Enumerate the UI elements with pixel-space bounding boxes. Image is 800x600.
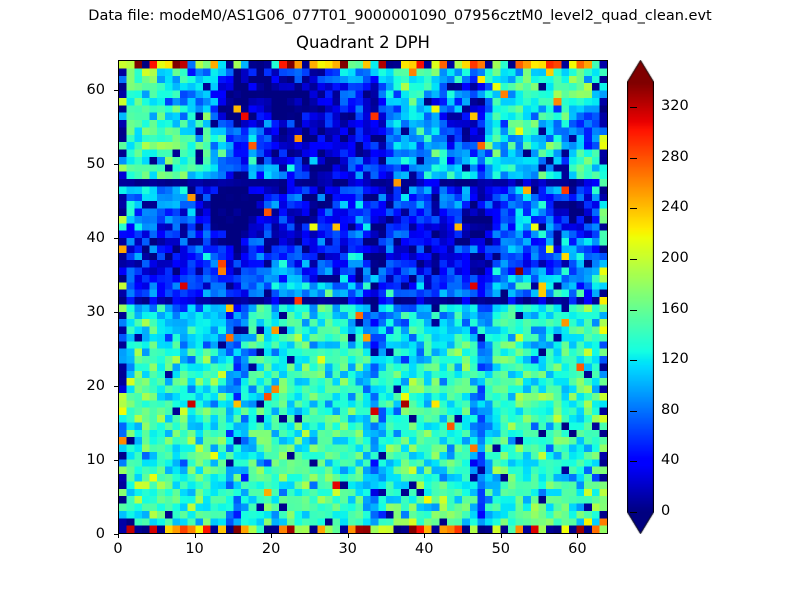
x-tick-label: 50 <box>471 541 531 557</box>
x-tick-mark <box>424 534 425 538</box>
x-tick-mark <box>271 534 272 538</box>
colorbar-tick-mark <box>630 158 637 159</box>
x-tick-mark <box>348 534 349 538</box>
colorbar-tick-mark <box>630 461 637 462</box>
y-tick-label: 40 <box>45 230 105 246</box>
colorbar-tick-label: 320 <box>661 98 689 114</box>
y-tick-label: 20 <box>45 378 105 394</box>
x-tick-mark <box>501 534 502 538</box>
colorbar-tick-label: 40 <box>661 452 679 468</box>
y-tick-mark <box>114 164 118 165</box>
y-tick-label: 60 <box>45 82 105 98</box>
x-tick-label: 60 <box>547 541 607 557</box>
colorbar-tick-mark <box>630 360 637 361</box>
colorbar-tick-mark <box>630 310 637 311</box>
colorbar-tick-label: 80 <box>661 402 679 418</box>
x-tick-label: 10 <box>165 541 225 557</box>
y-tick-mark <box>114 312 118 313</box>
colorbar-tick-label: 0 <box>661 503 670 519</box>
y-tick-mark <box>114 238 118 239</box>
x-tick-label: 40 <box>394 541 454 557</box>
x-tick-mark <box>195 534 196 538</box>
colorbar[interactable] <box>627 60 654 534</box>
data-file-caption: Data file: modeM0/AS1G06_077T01_90000010… <box>0 7 800 25</box>
colorbar-tick-label: 200 <box>661 250 689 266</box>
page-title: Quadrant 2 DPH <box>118 33 608 53</box>
x-tick-label: 0 <box>88 541 148 557</box>
y-tick-label: 0 <box>45 526 105 542</box>
colorbar-tick-mark <box>630 411 637 412</box>
colorbar-tick-label: 160 <box>661 301 689 317</box>
x-tick-mark <box>118 534 119 538</box>
colorbar-tick-label: 280 <box>661 149 689 165</box>
colorbar-tick-mark <box>630 107 637 108</box>
colorbar-tick-label: 240 <box>661 199 689 215</box>
x-tick-mark <box>577 534 578 538</box>
colorbar-tick-mark <box>630 208 637 209</box>
detector-heatmap-image[interactable] <box>119 61 607 533</box>
colorbar-tick-mark <box>630 512 637 513</box>
y-tick-label: 10 <box>45 452 105 468</box>
y-tick-mark <box>114 534 118 535</box>
colorbar-gradient <box>627 60 654 534</box>
x-tick-label: 30 <box>318 541 378 557</box>
y-tick-mark <box>114 460 118 461</box>
y-tick-mark <box>114 386 118 387</box>
colorbar-tick-label: 120 <box>661 351 689 367</box>
x-tick-label: 20 <box>241 541 301 557</box>
figure-canvas: Data file: modeM0/AS1G06_077T01_90000010… <box>0 0 800 600</box>
y-tick-label: 50 <box>45 156 105 172</box>
y-tick-label: 30 <box>45 304 105 320</box>
colorbar-tick-mark <box>630 259 637 260</box>
heatmap-axes[interactable] <box>118 60 608 534</box>
y-tick-mark <box>114 90 118 91</box>
